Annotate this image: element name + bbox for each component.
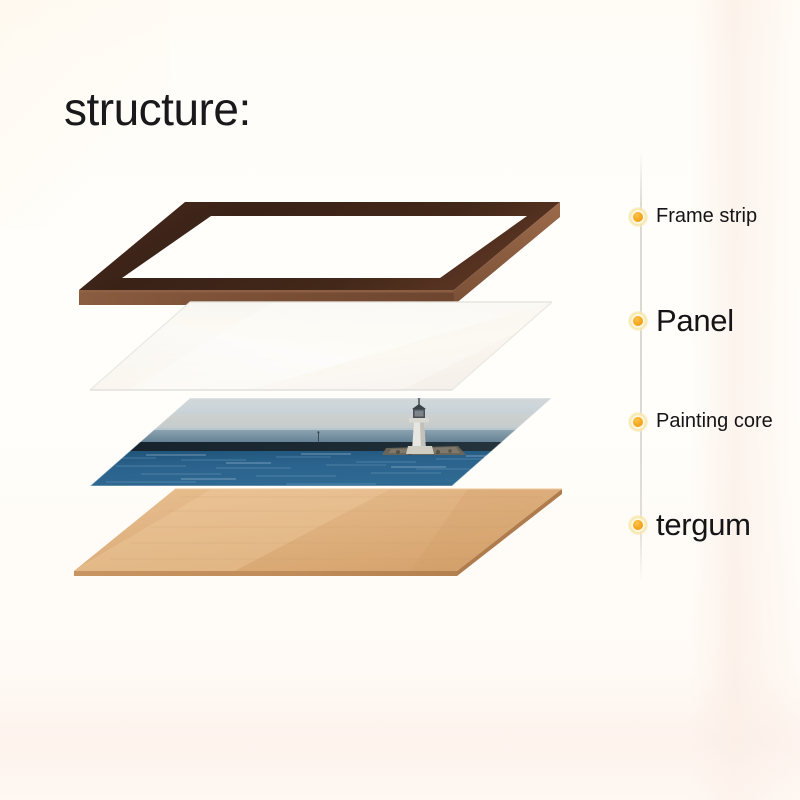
legend-item-label: Frame strip	[656, 205, 757, 228]
bullet-dot-icon	[628, 311, 648, 331]
bullet-dot-icon	[628, 207, 648, 227]
layer-painting-core[interactable]	[86, 396, 556, 496]
bullet-dot-icon	[628, 412, 648, 432]
legend: Frame strip Panel Painting core tergum	[600, 0, 800, 800]
legend-item-label: Painting core	[656, 410, 773, 433]
legend-item-label: tergum	[656, 507, 751, 543]
legend-item-frame-strip[interactable]: Frame strip	[628, 205, 757, 228]
diagram-canvas: structure:	[0, 0, 800, 800]
exploded-layer-stack	[0, 0, 600, 800]
legend-item-painting-core[interactable]: Painting core	[628, 410, 773, 433]
legend-item-panel[interactable]: Panel	[628, 303, 734, 339]
layer-tergum[interactable]	[72, 483, 567, 581]
legend-item-label: Panel	[656, 303, 734, 339]
legend-item-tergum[interactable]: tergum	[628, 507, 751, 543]
bullet-dot-icon	[628, 515, 648, 535]
layer-frame-strip[interactable]	[72, 196, 567, 311]
layer-panel[interactable]	[86, 298, 556, 398]
